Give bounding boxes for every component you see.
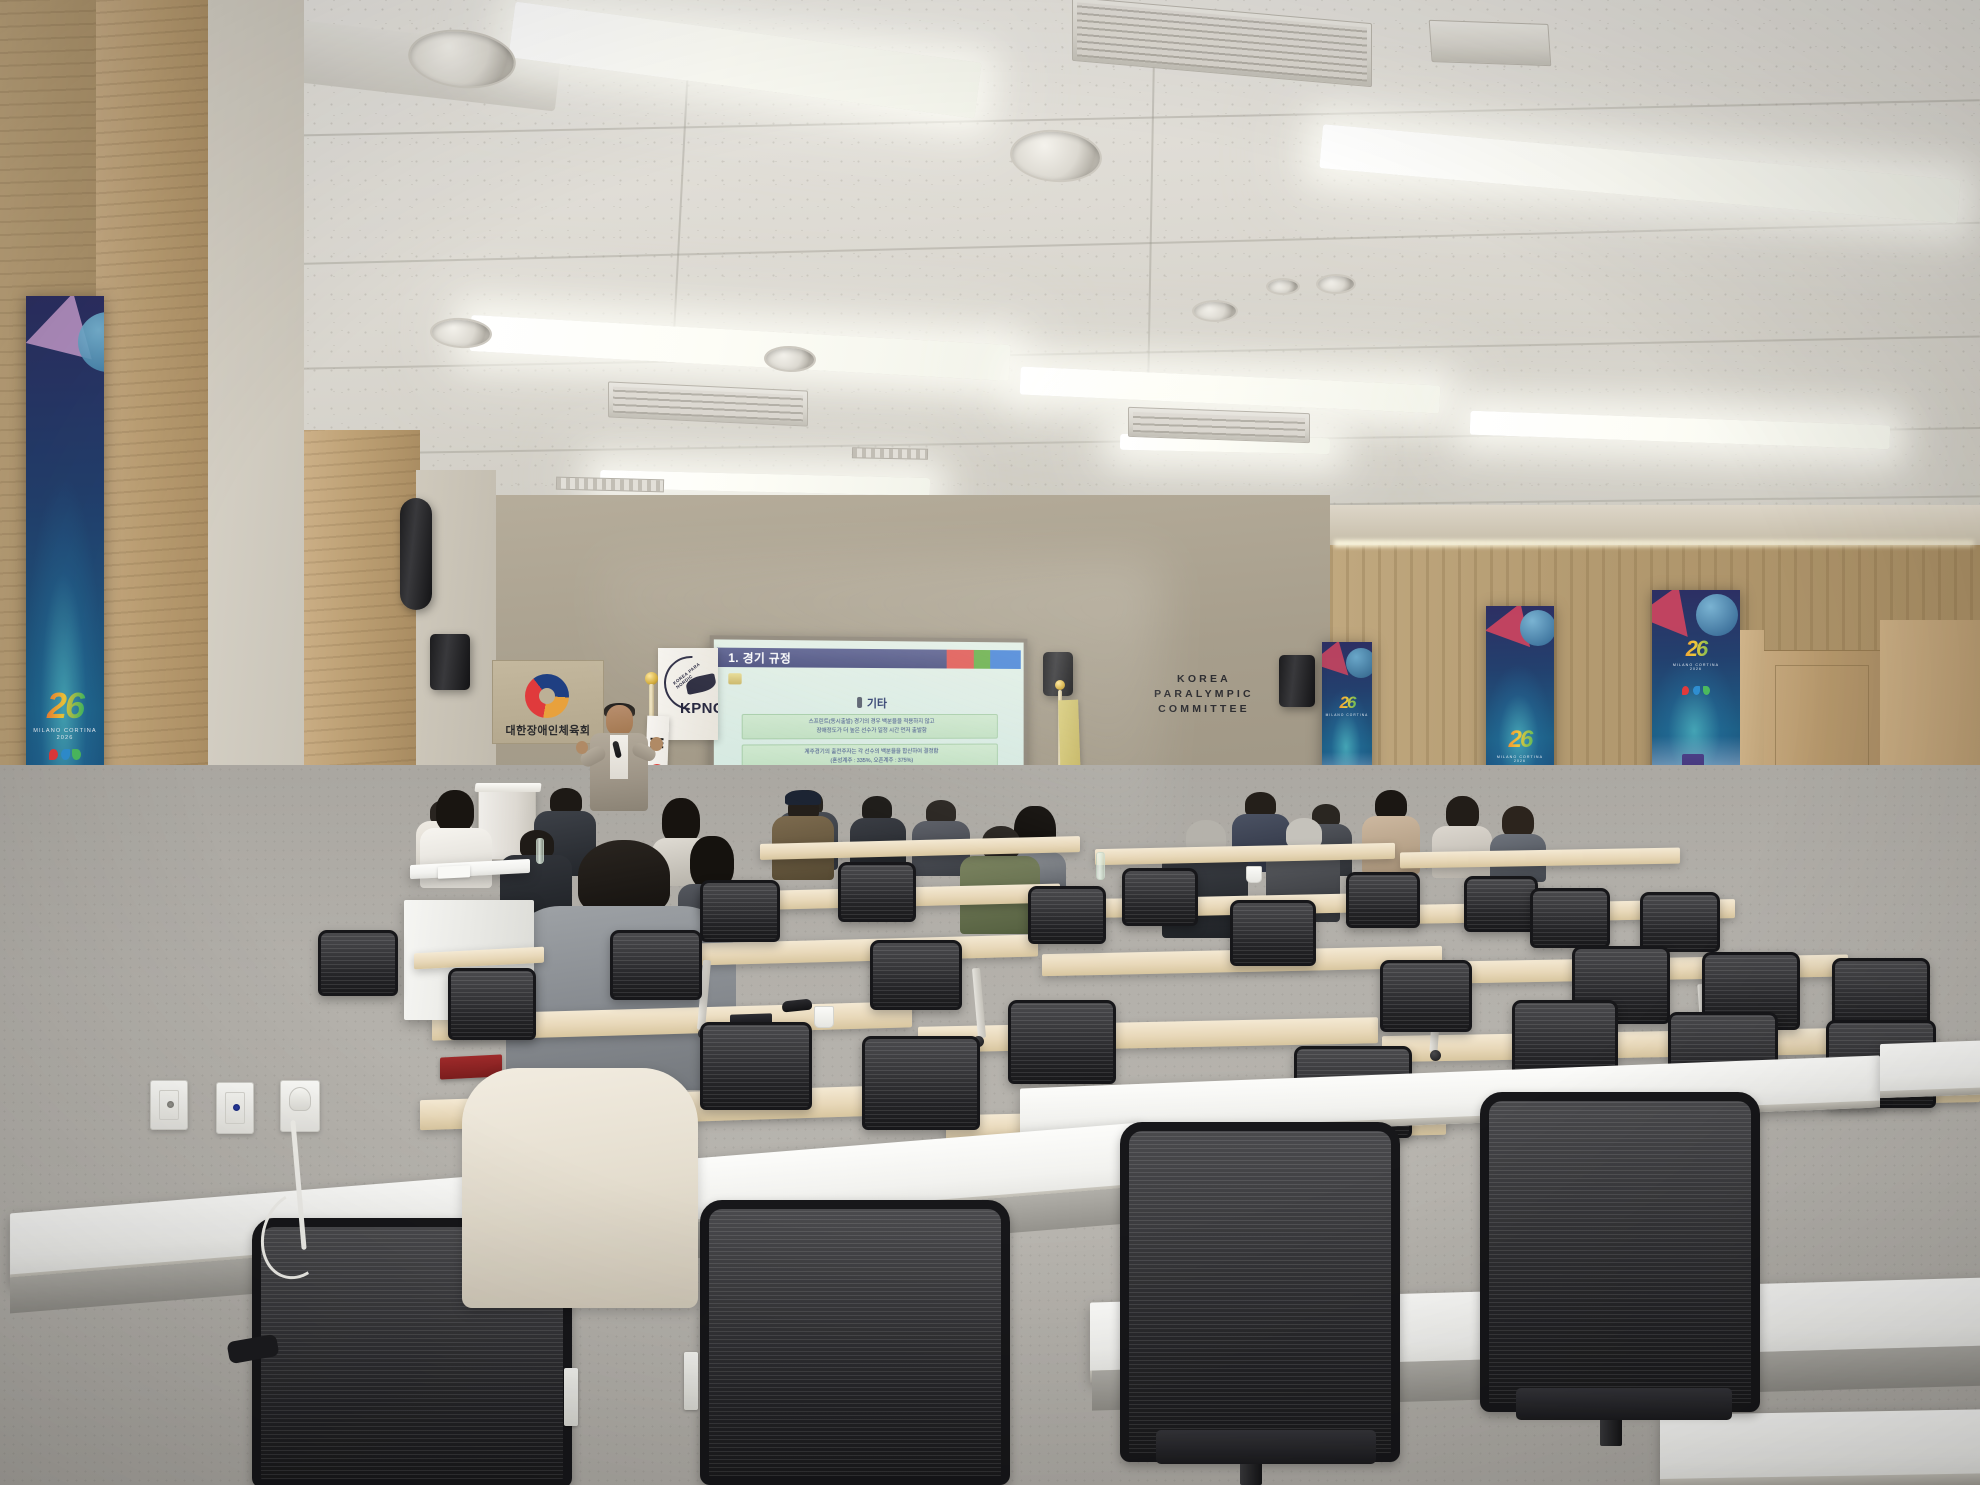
slide-badge-icon — [728, 673, 741, 684]
audience-person — [1490, 806, 1546, 882]
banner-event-name: MILANO CORTINA — [26, 728, 104, 735]
lecture-room-scene: 26 MILANO CORTINA 2026 KOREA PARALYMPIC … — [0, 0, 1980, 1485]
chair-backrest — [700, 880, 780, 942]
chair-backrest — [1380, 960, 1472, 1032]
presenter — [588, 705, 650, 810]
chair-backrest — [1122, 868, 1198, 926]
wall-sign-line-3: COMMITTEE — [1149, 702, 1259, 717]
chair-backrest — [1346, 872, 1420, 928]
chair-backrest — [1120, 1122, 1400, 1462]
wall-speaker-left-lower — [430, 634, 470, 690]
chair[interactable] — [838, 862, 916, 922]
chair[interactable] — [1122, 868, 1198, 926]
banner-circle — [1520, 610, 1554, 646]
switch-indicator-icon — [167, 1101, 174, 1108]
banner-logo-block: 26 MILANO CORTINA 2026 — [1486, 728, 1554, 764]
person-body — [420, 828, 492, 888]
slide-accent-red — [947, 650, 974, 669]
switch-indicator-icon — [233, 1104, 240, 1111]
chair[interactable] — [448, 968, 536, 1040]
org-sign-korean-text: 대한장애인체육회 — [493, 722, 603, 738]
person-cap-icon — [785, 790, 821, 805]
chair-backrest — [862, 1036, 980, 1130]
paper-sheet[interactable] — [438, 865, 470, 879]
slide-box-line: 장애정도가 더 높은 선수가 일정 시간 먼저 출발함 — [745, 726, 995, 735]
water-bottle[interactable] — [1096, 852, 1105, 880]
ceiling-vent-icon — [1266, 278, 1300, 295]
chair-tag — [684, 1352, 698, 1410]
slide-title-bar: 1. 경기 규정 — [717, 648, 1021, 669]
slide-section-heading-text: 기타 — [867, 698, 887, 710]
chair-seat — [1516, 1388, 1732, 1420]
wall-sign-korea-paralympic-committee: KOREA PARALYMPIC COMMITTEE — [1149, 672, 1259, 730]
ceiling-air-grille — [852, 447, 928, 460]
person-hair — [1446, 796, 1479, 830]
person-hair-long — [436, 790, 474, 832]
ceiling-ac-unit — [1429, 20, 1552, 66]
desk-caster — [1430, 1050, 1441, 1061]
chair[interactable] — [1346, 872, 1420, 928]
flag-finial-icon — [1055, 680, 1065, 690]
ac-slats — [613, 387, 803, 422]
chair-seat — [1156, 1430, 1376, 1464]
chair-backrest — [1028, 886, 1106, 944]
paper-cup[interactable] — [1246, 866, 1262, 883]
chair-backrest — [1530, 888, 1610, 948]
chair[interactable] — [1008, 1000, 1116, 1084]
banner-event-year: 2026 — [1652, 667, 1740, 671]
foreground-desk-front-right — [1660, 1409, 1980, 1485]
chair-backrest — [1230, 900, 1316, 966]
ac-slats — [1133, 412, 1305, 438]
presenter-head — [606, 705, 633, 736]
chair[interactable] — [870, 940, 962, 1010]
chair-backrest — [610, 930, 702, 1000]
banner-event-name: MILANO CORTINA — [1322, 713, 1372, 717]
desk-edge — [1660, 1473, 1980, 1485]
chair-foreground[interactable] — [700, 1200, 1010, 1485]
foreground-desk-far-right — [1880, 1040, 1980, 1098]
ceiling-air-grille — [556, 477, 664, 493]
chair-backrest — [1480, 1092, 1760, 1412]
ceiling-vent-icon — [1316, 274, 1356, 294]
paper-cup[interactable] — [814, 1006, 834, 1028]
water-bottle[interactable] — [536, 838, 544, 864]
wall-sign-line-1: KOREA — [1149, 672, 1259, 687]
chair-backrest — [448, 968, 536, 1040]
taegeuk-swirl-icon — [525, 674, 569, 718]
chair[interactable] — [318, 930, 398, 996]
right-wall-cove — [1330, 505, 1980, 545]
chair[interactable] — [610, 930, 702, 1000]
agitos-logo-icon — [26, 747, 104, 765]
wall-speaker-right — [1279, 655, 1315, 707]
slide-accent-blocks — [947, 650, 1021, 669]
chair[interactable] — [1380, 960, 1472, 1032]
chair-backrest — [1008, 1000, 1116, 1084]
chair[interactable] — [700, 880, 780, 942]
slide-accent-blue — [990, 650, 1021, 669]
power-outlet[interactable] — [280, 1080, 320, 1132]
banner-mark-26: 26 — [26, 688, 104, 724]
chair-backrest — [700, 1022, 812, 1110]
light-switch-2[interactable] — [216, 1082, 254, 1134]
chair-backrest — [318, 930, 398, 996]
slide-bullet-icon — [857, 697, 862, 708]
banner-circle — [1696, 594, 1738, 636]
slide-content-box: 스프린트(동시출발) 경기의 경우 백분율을 적용하지 않고 장애정도가 더 높… — [742, 714, 998, 740]
chair-backrest — [1640, 892, 1720, 952]
audience-person — [850, 796, 906, 872]
wall-speaker-left — [400, 498, 432, 610]
power-plug[interactable] — [289, 1087, 311, 1111]
swirl-center — [539, 688, 555, 704]
banner-event-year: 2026 — [1486, 759, 1554, 763]
ceiling-vent-icon — [1192, 300, 1238, 322]
chair-backrest — [700, 1200, 1010, 1485]
agitos-logo-icon — [1652, 682, 1740, 700]
wall-sign-line-2: PARALYMPIC — [1149, 687, 1259, 702]
chair[interactable] — [1028, 886, 1106, 944]
slide-title-text: 1. 경기 규정 — [717, 649, 791, 666]
chair-backrest — [838, 862, 916, 922]
chair-foreground[interactable] — [1120, 1122, 1400, 1462]
chair-foreground[interactable] — [1480, 1092, 1760, 1412]
banner-logo-block: 26 MILANO CORTINA 2026 — [1652, 638, 1740, 672]
chair-tag — [564, 1368, 578, 1426]
presenter-hand-right — [650, 737, 663, 751]
light-switch-1[interactable] — [150, 1080, 188, 1130]
audience-person — [772, 794, 834, 880]
chair-backrest — [870, 940, 962, 1010]
presenter-hand-left — [576, 741, 588, 754]
banner-mark-26: 26 — [1652, 638, 1740, 660]
slide-box-line: 스프린트(동시출발) 경기의 경우 백분율을 적용하지 않고 — [745, 718, 995, 727]
chair[interactable] — [1230, 900, 1316, 966]
coat-on-chair — [462, 1068, 698, 1308]
banner-circle — [1346, 648, 1372, 678]
banner-mark-26: 26 — [1322, 694, 1372, 711]
chair-backrest — [1464, 876, 1538, 932]
chair[interactable] — [700, 1022, 812, 1110]
chair[interactable] — [1464, 876, 1538, 932]
ceiling-ac-unit — [1128, 407, 1310, 443]
chair[interactable] — [1530, 888, 1610, 948]
chair[interactable] — [862, 1036, 980, 1130]
kpnc-abbrev-text: KPNC — [680, 700, 718, 717]
banner-mark-26: 26 — [1486, 728, 1554, 752]
cove-light — [1334, 540, 1974, 547]
person-hair — [578, 840, 670, 914]
banner-event-year: 2026 — [26, 735, 104, 742]
slide-section-heading: 기타 — [714, 695, 1024, 712]
banner-logo-block: 26 MILANO CORTINA 2026 — [26, 688, 104, 742]
slide-accent-green — [974, 650, 990, 669]
chair[interactable] — [1640, 892, 1720, 952]
banner-logo-block: 26 MILANO CORTINA — [1322, 694, 1372, 717]
